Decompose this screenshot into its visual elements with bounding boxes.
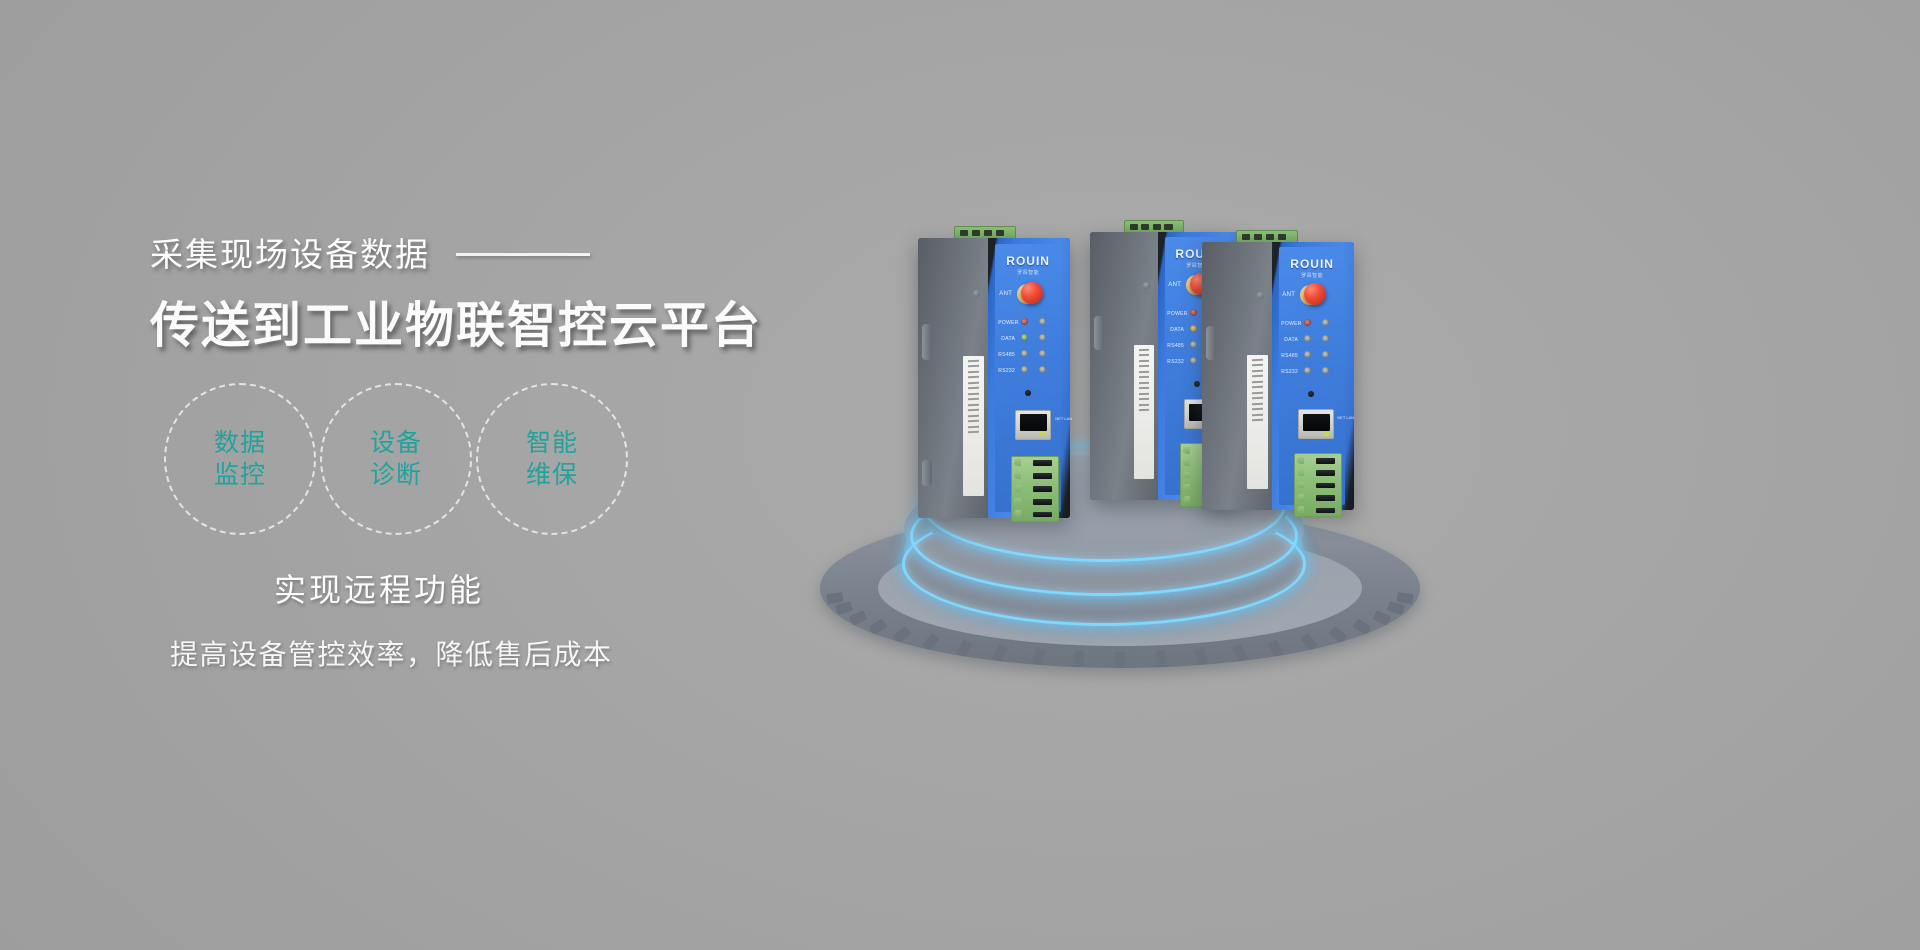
device-gateway-left[interactable]: ROUIN 罗昂智能 ANT POWER DATA RS485 (918, 238, 1070, 518)
pedestal-notch (835, 601, 853, 615)
feature-label-line1: 设备 (370, 427, 422, 459)
antenna-connector[interactable] (1021, 282, 1043, 304)
reset-button[interactable] (1308, 391, 1314, 397)
device-metal-flank (1202, 242, 1272, 510)
pedestal-notch (849, 610, 868, 626)
eyebrow-text: 采集现场设备数据 (150, 228, 430, 276)
device-label-sticker (1247, 355, 1268, 489)
brand-subtitle: 罗昂智能 (1301, 272, 1323, 279)
device-front-plate: ROUIN 罗昂智能 ANT POWER DATA RS485 (995, 244, 1061, 513)
pedestal-notch (1373, 610, 1392, 626)
antenna-label: ANT (1282, 292, 1295, 298)
device-label-sticker (963, 356, 984, 496)
led-data-aux (1039, 334, 1046, 341)
ethernet-port[interactable] (1015, 410, 1051, 440)
feature-label-line2: 维保 (526, 459, 578, 491)
led-rs485 (1021, 350, 1028, 357)
led-rs485-aux (1039, 350, 1046, 357)
port-label-net: NET LAN (1337, 415, 1354, 420)
led-power (1190, 309, 1197, 316)
pedestal-notch (868, 618, 887, 635)
device-gateway-right[interactable]: ROUIN 罗昂智能 ANT POWER DATA RS485 (1202, 242, 1354, 510)
pedestal-notch (1232, 644, 1248, 663)
led-rs232-aux (1039, 366, 1046, 373)
device-faceplate: ROUIN 罗昂智能 ANT POWER DATA RS485 (988, 238, 1070, 518)
led-rs232-aux (1322, 367, 1329, 374)
feature-circle-data-monitoring[interactable]: 数据 监控 (164, 383, 316, 535)
led-rs485 (1304, 351, 1311, 358)
feature-circle-device-diagnosis[interactable]: 设备 诊断 (320, 383, 472, 535)
led-label-rs232: RS232 (1167, 359, 1184, 365)
device-metal-flank (918, 238, 988, 518)
product-scene: ROUIN 罗昂智能 ANT POWER DATA RS485 (790, 190, 1490, 650)
led-label-data: DATA (1001, 336, 1015, 342)
reset-button[interactable] (1194, 381, 1200, 387)
led-label-power: POWER (1281, 321, 1301, 327)
led-power-aux (1039, 318, 1046, 325)
pedestal-notch (1032, 648, 1046, 666)
screw-terminal-block[interactable] (1294, 453, 1342, 517)
led-label-data: DATA (1170, 327, 1184, 333)
device-metal-flank (1090, 232, 1158, 500)
led-rs232 (1190, 357, 1197, 364)
pedestal-notch (1353, 618, 1372, 635)
antenna-label: ANT (1168, 282, 1181, 288)
feature-circle-smart-maintenance[interactable]: 智能 维保 (476, 383, 628, 535)
led-data-aux (1322, 335, 1329, 342)
promo-banner: 采集现场设备数据 传送到工业物联智控云平台 数据 监控 设备 诊断 智能 维保 … (0, 0, 1920, 950)
feature-label-line1: 智能 (526, 427, 578, 459)
pedestal-notch (893, 626, 912, 644)
feature-label-line2: 诊断 (370, 459, 422, 491)
led-rs485 (1190, 341, 1197, 348)
led-label-rs232: RS232 (1281, 369, 1298, 375)
led-label-power: POWER (1167, 311, 1187, 317)
led-label-rs485: RS485 (998, 352, 1015, 358)
antenna-connector[interactable] (1304, 283, 1326, 305)
brand-logo: ROUIN (1006, 254, 1050, 268)
device-front-plate: ROUIN 罗昂智能 ANT POWER DATA RS485 (1279, 247, 1345, 504)
screw-terminal-block[interactable] (1011, 456, 1059, 522)
feature-label-line2: 监控 (214, 459, 266, 491)
pedestal-notch (922, 633, 940, 652)
ethernet-port[interactable] (1298, 409, 1334, 439)
device-label-sticker (1134, 345, 1154, 479)
feature-label-line1: 数据 (214, 427, 266, 459)
led-label-rs485: RS485 (1167, 343, 1184, 349)
pedestal-notch (1396, 592, 1413, 604)
led-power (1304, 319, 1311, 326)
brand-subtitle: 罗昂智能 (1017, 269, 1039, 276)
pedestal-notch (992, 644, 1008, 663)
reset-button[interactable] (1025, 390, 1031, 396)
pedestal-notch (1267, 639, 1284, 658)
led-rs232 (1304, 367, 1311, 374)
led-label-rs485: RS485 (1281, 353, 1298, 359)
led-data (1190, 325, 1197, 332)
device-faceplate: ROUIN 罗昂智能 ANT POWER DATA RS485 (1272, 242, 1354, 510)
pedestal-notch (1073, 651, 1085, 668)
led-rs485-aux (1322, 351, 1329, 358)
antenna-label: ANT (999, 291, 1012, 297)
device-body: ROUIN 罗昂智能 ANT POWER DATA RS485 (1202, 242, 1354, 510)
led-label-rs232: RS232 (998, 368, 1015, 374)
pedestal-notch (1387, 601, 1405, 615)
pedestal-notch (1155, 651, 1167, 668)
pedestal-notch (956, 639, 973, 658)
device-body: ROUIN 罗昂智能 ANT POWER DATA RS485 (918, 238, 1070, 518)
pedestal-notch (1300, 633, 1318, 652)
pedestal-notch (1115, 652, 1125, 668)
port-label-net: NET LAN (1055, 416, 1072, 421)
led-data (1304, 335, 1311, 342)
led-power-aux (1322, 319, 1329, 326)
pedestal-notch (1194, 648, 1208, 666)
eyebrow-divider (456, 253, 590, 256)
brand-logo: ROUIN (1290, 257, 1334, 271)
led-power (1021, 318, 1028, 325)
led-rs232 (1021, 366, 1028, 373)
led-label-power: POWER (998, 320, 1018, 326)
led-data (1021, 334, 1028, 341)
led-label-data: DATA (1284, 337, 1298, 343)
pedestal-notch (1328, 626, 1347, 644)
